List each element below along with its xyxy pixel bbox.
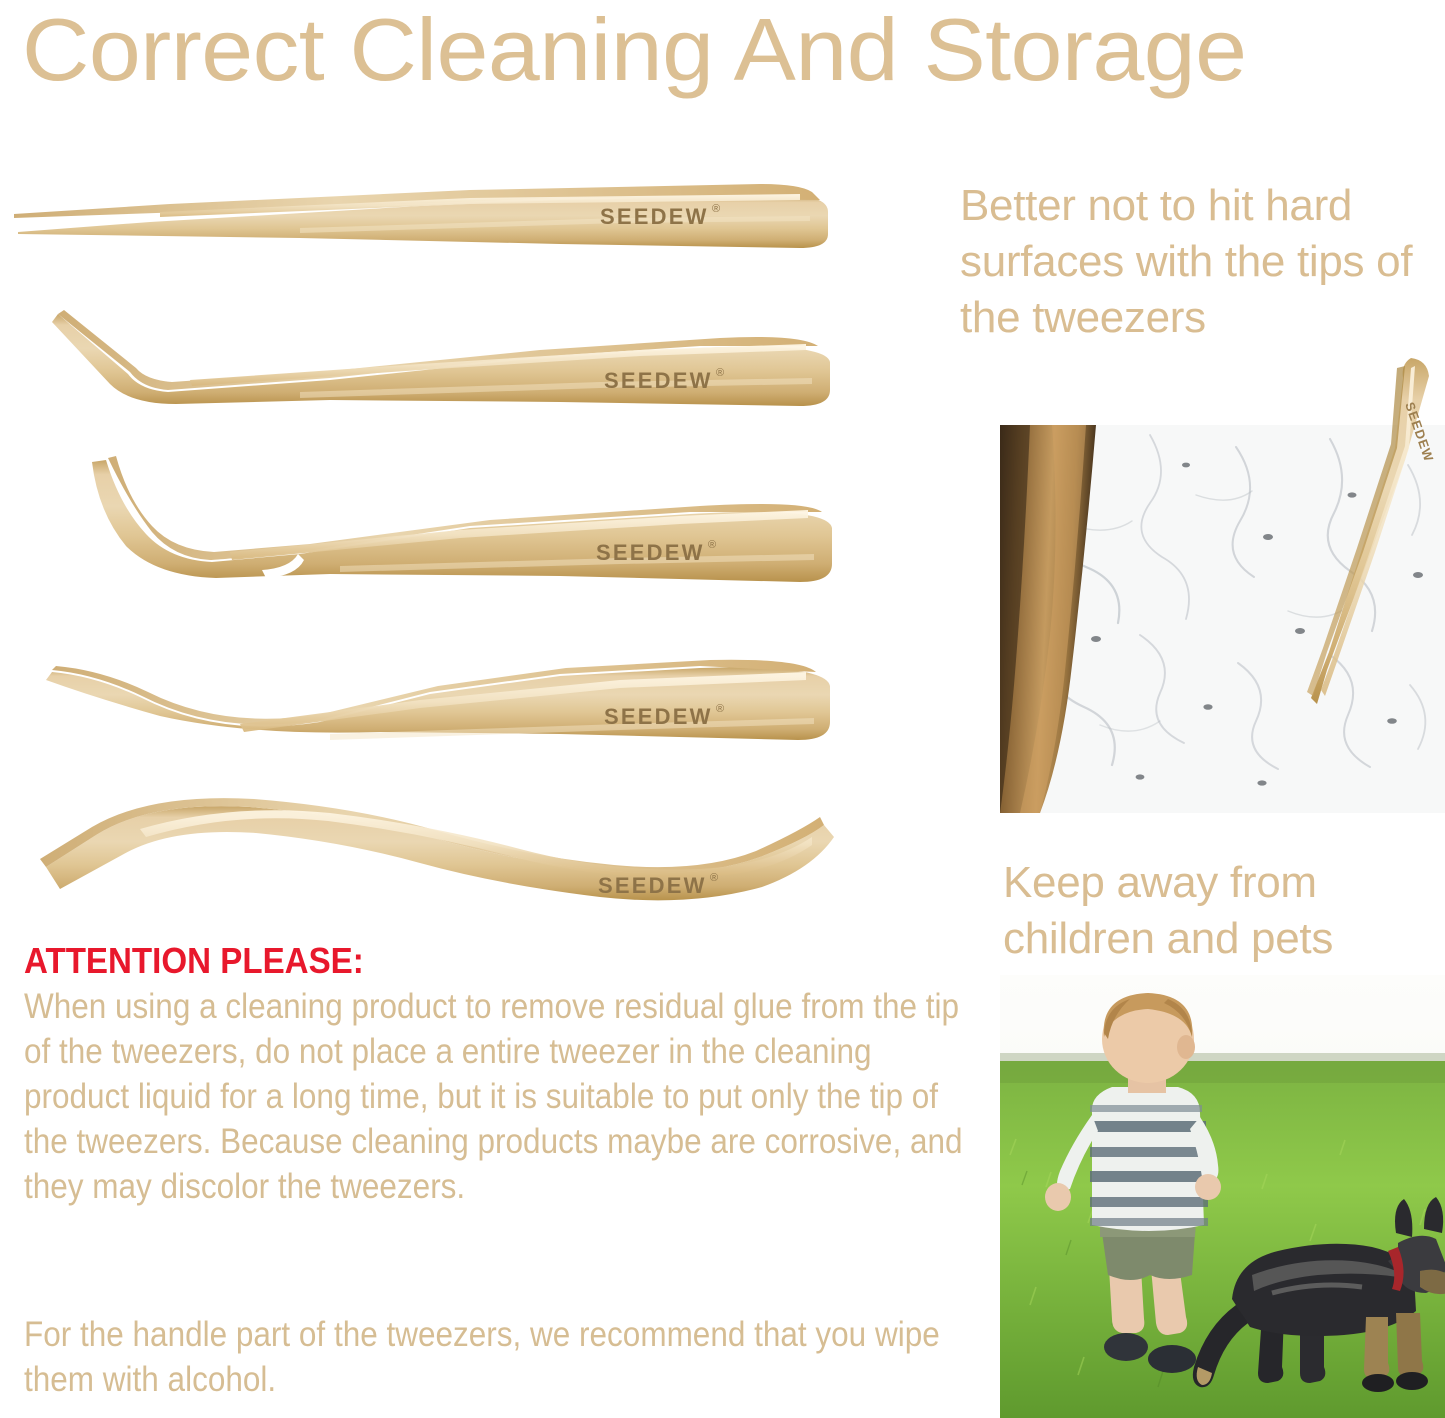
tweezer-item-3: SEEDEW ® [0, 448, 880, 598]
tweezer-1-trademark: ® [712, 203, 720, 215]
tweezer-1-brand: SEEDEW [600, 204, 709, 229]
tweezer-4-trademark: ® [716, 703, 724, 715]
attention-heading: ATTENTION PLEASE: [24, 940, 898, 982]
attention-body-text: When using a cleaning product to remove … [24, 984, 974, 1209]
tweezer-3-trademark: ® [708, 539, 716, 551]
callout-children-pets: Keep away from children and pets [1003, 855, 1443, 967]
tweezer-3-brand: SEEDEW [596, 540, 705, 565]
tweezer-item-1: SEEDEW ® [0, 178, 880, 258]
handle-care-note: For the handle part of the tweezers, we … [24, 1312, 974, 1402]
tweezer-5-trademark: ® [710, 872, 718, 884]
tweezer-5-brand: SEEDEW [598, 873, 707, 898]
callout-hard-surfaces: Better not to hit hard surfaces with the… [960, 178, 1445, 346]
tweezer-item-2: SEEDEW ® [0, 308, 880, 418]
tweezer-product-stack: SEEDEW ® SEEDEW ® SEEDEW ® [0, 160, 900, 920]
tweezer-4-brand: SEEDEW [604, 704, 713, 729]
child-and-dog-photo [1000, 975, 1445, 1418]
tweezer-2-brand: SEEDEW [604, 368, 713, 393]
tweezer-2-trademark: ® [716, 367, 724, 379]
tweezer-item-4: SEEDEW ® [0, 640, 880, 760]
right-column: Better not to hit hard surfaces with the… [955, 0, 1445, 1418]
tweezer-item-5: SEEDEW ® [0, 785, 880, 910]
attention-block: ATTENTION PLEASE: When using a cleaning … [24, 940, 974, 1209]
tweezer-on-marble-photo [1000, 425, 1445, 813]
